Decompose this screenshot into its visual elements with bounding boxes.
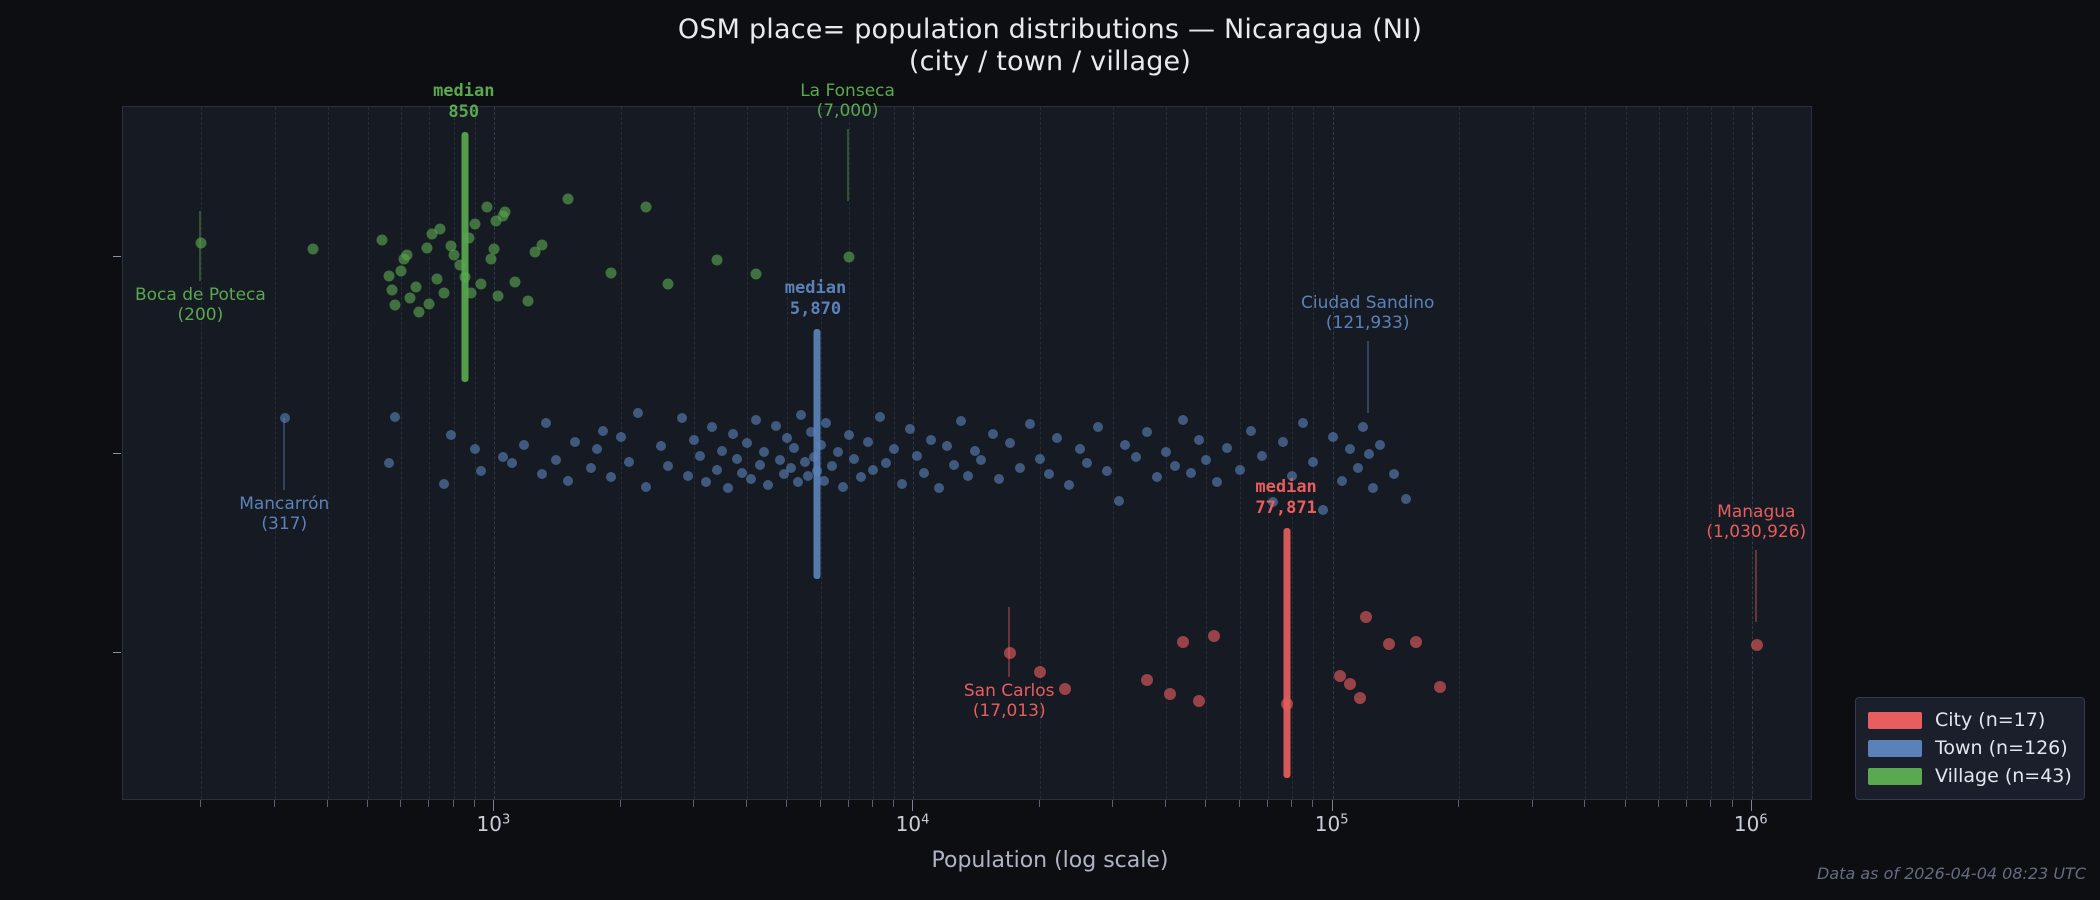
data-point-town bbox=[833, 447, 843, 457]
gridline bbox=[201, 107, 202, 799]
x-axis-title: Population (log scale) bbox=[0, 848, 2100, 873]
outlier-value: (17,013) bbox=[964, 701, 1055, 721]
outlier-leader-line bbox=[847, 129, 848, 201]
data-point-village bbox=[405, 292, 416, 303]
data-point-town bbox=[551, 455, 561, 465]
outlier-label-mancarr-n: Mancarrón(317) bbox=[239, 494, 329, 534]
outlier-value: (200) bbox=[135, 305, 266, 325]
gridline bbox=[873, 107, 874, 799]
outlier-value: (121,933) bbox=[1301, 313, 1434, 333]
median-value: 77,871 bbox=[1255, 498, 1316, 519]
data-point-town bbox=[786, 463, 796, 473]
median-word: median bbox=[433, 81, 494, 102]
data-point-village bbox=[390, 300, 401, 311]
data-point-village bbox=[432, 273, 443, 284]
gridline bbox=[368, 107, 369, 799]
data-point-city bbox=[1164, 688, 1176, 700]
gridline bbox=[1333, 107, 1334, 799]
data-point-town bbox=[1389, 469, 1399, 479]
x-axis-tick bbox=[1205, 800, 1206, 807]
x-axis-tick bbox=[1751, 800, 1752, 811]
gridline bbox=[1659, 107, 1660, 799]
data-point-village bbox=[489, 244, 500, 255]
data-point-village bbox=[750, 269, 761, 280]
median-value: 5,870 bbox=[785, 299, 846, 320]
data-point-city bbox=[1059, 683, 1071, 695]
outlier-leader-line bbox=[1009, 607, 1010, 677]
data-point-town bbox=[470, 444, 480, 454]
data-point-town bbox=[689, 435, 699, 445]
data-point-town bbox=[1102, 466, 1112, 476]
x-axis-tick bbox=[1239, 800, 1240, 807]
data-point-town bbox=[746, 474, 756, 484]
data-point-town bbox=[796, 410, 806, 420]
gridline bbox=[1533, 107, 1534, 799]
x-axis-tick bbox=[493, 800, 494, 811]
data-point-town bbox=[712, 465, 722, 475]
outlier-label-managua: Managua(1,030,926) bbox=[1706, 502, 1806, 542]
data-point-town bbox=[507, 458, 517, 468]
gridline bbox=[1292, 107, 1293, 799]
data-point-town bbox=[723, 483, 733, 493]
outlier-leader-line bbox=[284, 418, 285, 490]
x-axis-tick bbox=[1732, 800, 1733, 807]
data-point-town bbox=[598, 426, 608, 436]
data-point-town bbox=[789, 443, 799, 453]
data-point-city bbox=[1177, 636, 1189, 648]
data-point-town bbox=[1082, 458, 1092, 468]
legend-label-village: Village (n=43) bbox=[1935, 765, 2072, 787]
x-axis-tick bbox=[693, 800, 694, 807]
data-point-town bbox=[755, 460, 765, 470]
data-point-town bbox=[1345, 444, 1355, 454]
x-axis-tick-label: 103 bbox=[476, 812, 510, 836]
outlier-name: Managua bbox=[1706, 502, 1806, 522]
data-point-town bbox=[624, 457, 634, 467]
outlier-label-san-carlos: San Carlos(17,013) bbox=[964, 681, 1055, 721]
data-point-town bbox=[1278, 437, 1288, 447]
x-axis-tick bbox=[1291, 800, 1292, 807]
data-point-village bbox=[640, 202, 651, 213]
outlier-label-ciudad-sandino: Ciudad Sandino(121,933) bbox=[1301, 293, 1434, 333]
data-point-town bbox=[570, 437, 580, 447]
data-point-town bbox=[934, 483, 944, 493]
gridline bbox=[429, 107, 430, 799]
data-point-village bbox=[492, 291, 503, 302]
data-point-city bbox=[1434, 681, 1446, 693]
data-point-town bbox=[656, 441, 666, 451]
data-point-town bbox=[1308, 457, 1318, 467]
data-point-town bbox=[1142, 427, 1152, 437]
x-axis-tick bbox=[274, 800, 275, 807]
data-point-town bbox=[949, 460, 959, 470]
outlier-name: Boca de Poteca bbox=[135, 285, 266, 305]
gridline bbox=[401, 107, 402, 799]
median-label-city: median77,871 bbox=[1255, 477, 1316, 519]
data-point-town bbox=[793, 477, 803, 487]
gridline bbox=[747, 107, 748, 799]
data-point-village bbox=[509, 276, 520, 287]
data-point-town bbox=[563, 476, 573, 486]
data-point-town bbox=[771, 421, 781, 431]
data-point-town bbox=[988, 429, 998, 439]
x-axis-tick bbox=[367, 800, 368, 807]
data-point-town bbox=[728, 429, 738, 439]
data-point-town bbox=[683, 471, 693, 481]
gridline bbox=[1459, 107, 1460, 799]
data-point-town bbox=[1358, 422, 1368, 432]
data-point-town bbox=[889, 444, 899, 454]
data-point-town bbox=[926, 435, 936, 445]
data-point-town bbox=[1337, 476, 1347, 486]
data-point-town bbox=[1235, 465, 1245, 475]
data-point-town bbox=[1131, 452, 1141, 462]
x-axis-tick bbox=[893, 800, 894, 807]
outlier-leader-line bbox=[1756, 550, 1757, 622]
data-point-city bbox=[1360, 611, 1372, 623]
data-point-town bbox=[868, 465, 878, 475]
data-point-town bbox=[446, 430, 456, 440]
median-value: 850 bbox=[433, 102, 494, 123]
outlier-value: (1,030,926) bbox=[1706, 522, 1806, 542]
data-point-town bbox=[838, 482, 848, 492]
data-point-town bbox=[1114, 496, 1124, 506]
data-point-village bbox=[387, 284, 398, 295]
gridline bbox=[849, 107, 850, 799]
data-point-town bbox=[1152, 472, 1162, 482]
gridline bbox=[1240, 107, 1241, 799]
data-point-town bbox=[875, 412, 885, 422]
data-point-city bbox=[1383, 638, 1395, 650]
data-point-town bbox=[919, 468, 929, 478]
data-point-town bbox=[1161, 447, 1171, 457]
data-point-town bbox=[742, 438, 752, 448]
data-point-town bbox=[439, 479, 449, 489]
data-point-town bbox=[384, 458, 394, 468]
data-point-town bbox=[863, 437, 873, 447]
x-axis-tick bbox=[1532, 800, 1533, 807]
data-point-town bbox=[1015, 463, 1025, 473]
x-axis-tick bbox=[1710, 800, 1711, 807]
data-point-town bbox=[912, 451, 922, 461]
x-axis-tick bbox=[848, 800, 849, 807]
data-point-town bbox=[641, 482, 651, 492]
data-point-town bbox=[905, 424, 915, 434]
x-axis-tick bbox=[1458, 800, 1459, 807]
data-point-town bbox=[881, 458, 891, 468]
data-point-village bbox=[522, 295, 533, 306]
outlier-name: Ciudad Sandino bbox=[1301, 293, 1434, 313]
data-point-village bbox=[434, 223, 445, 234]
data-point-village bbox=[470, 219, 481, 230]
data-timestamp: Data as of 2026-04-04 08:23 UTC bbox=[1817, 864, 2086, 883]
data-point-town bbox=[1201, 455, 1211, 465]
x-axis-tick bbox=[474, 800, 475, 807]
data-point-town bbox=[1005, 438, 1015, 448]
x-axis-tick-label: 106 bbox=[1734, 812, 1768, 836]
data-point-town bbox=[476, 466, 486, 476]
gridline bbox=[1206, 107, 1207, 799]
chart-canvas: OSM place= population distributions — Ni… bbox=[0, 0, 2100, 900]
data-point-town bbox=[390, 412, 400, 422]
y-axis-tick bbox=[113, 453, 121, 454]
data-point-village bbox=[377, 234, 388, 245]
data-point-village bbox=[439, 287, 450, 298]
data-point-town bbox=[1194, 435, 1204, 445]
data-point-town bbox=[606, 472, 616, 482]
legend-label-town: Town (n=126) bbox=[1935, 737, 2068, 759]
data-point-town bbox=[1375, 440, 1385, 450]
data-point-town bbox=[1364, 449, 1374, 459]
data-point-town bbox=[1075, 444, 1085, 454]
data-point-town bbox=[775, 455, 785, 465]
data-point-town bbox=[994, 474, 1004, 484]
data-point-town bbox=[1064, 480, 1074, 490]
outlier-leader-line bbox=[1367, 341, 1368, 413]
data-point-city bbox=[1141, 674, 1153, 686]
x-axis-tick bbox=[1267, 800, 1268, 807]
x-axis-tick bbox=[1312, 800, 1313, 807]
outlier-label-boca-de-poteca: Boca de Poteca(200) bbox=[135, 285, 266, 325]
data-point-city bbox=[1004, 647, 1016, 659]
data-point-town bbox=[1257, 451, 1267, 461]
x-axis-tick bbox=[620, 800, 621, 807]
data-point-town bbox=[782, 433, 792, 443]
legend-swatch-village bbox=[1868, 768, 1922, 785]
data-point-village bbox=[421, 242, 432, 253]
x-axis-tick-label: 104 bbox=[896, 812, 930, 836]
data-point-town bbox=[1052, 433, 1062, 443]
data-point-town bbox=[1353, 463, 1363, 473]
legend-label-city: City (n=17) bbox=[1935, 709, 2045, 731]
x-axis-tick bbox=[200, 800, 201, 807]
legend-swatch-town bbox=[1868, 740, 1922, 757]
y-axis-tick bbox=[113, 652, 121, 653]
data-point-town bbox=[677, 413, 687, 423]
outlier-value: (7,000) bbox=[800, 101, 895, 121]
x-axis-tick bbox=[1039, 800, 1040, 807]
legend[interactable]: City (n=17) Town (n=126) Village (n=43) bbox=[1855, 697, 2085, 800]
data-point-village bbox=[481, 202, 492, 213]
legend-item[interactable]: Town (n=126) bbox=[1868, 734, 2072, 762]
data-point-city bbox=[1751, 639, 1763, 651]
chart-title: OSM place= population distributions — Ni… bbox=[0, 14, 2100, 78]
gridline bbox=[821, 107, 822, 799]
data-point-town bbox=[963, 471, 973, 481]
data-point-town bbox=[519, 440, 529, 450]
data-point-village bbox=[413, 306, 424, 317]
x-axis-tick bbox=[327, 800, 328, 807]
outlier-name: San Carlos bbox=[964, 681, 1055, 701]
data-point-city bbox=[1410, 636, 1422, 648]
data-point-town bbox=[633, 408, 643, 418]
data-point-town bbox=[663, 461, 673, 471]
data-point-town bbox=[976, 455, 986, 465]
data-point-town bbox=[1093, 422, 1103, 432]
data-point-town bbox=[942, 441, 952, 451]
x-axis-tick bbox=[912, 800, 913, 811]
outlier-leader-line bbox=[200, 211, 201, 281]
data-point-town bbox=[1178, 415, 1188, 425]
x-axis-tick bbox=[1625, 800, 1626, 807]
data-point-town bbox=[1401, 494, 1411, 504]
data-point-town bbox=[897, 479, 907, 489]
gridline bbox=[787, 107, 788, 799]
gridline bbox=[621, 107, 622, 799]
data-point-town bbox=[717, 446, 727, 456]
x-axis-tick bbox=[820, 800, 821, 807]
data-point-village bbox=[563, 194, 574, 205]
data-point-town bbox=[819, 476, 829, 486]
median-label-village: median850 bbox=[433, 81, 494, 123]
data-point-village bbox=[396, 266, 407, 277]
data-point-town bbox=[541, 418, 551, 428]
data-point-village bbox=[383, 270, 394, 281]
gridline bbox=[494, 107, 495, 799]
data-point-town bbox=[1025, 419, 1035, 429]
median-bar-town bbox=[813, 329, 820, 579]
data-point-village bbox=[424, 298, 435, 309]
data-point-town bbox=[956, 416, 966, 426]
x-axis-tick bbox=[786, 800, 787, 807]
data-point-city bbox=[1193, 695, 1205, 707]
data-point-town bbox=[592, 444, 602, 454]
gridline bbox=[454, 107, 455, 799]
data-point-town bbox=[827, 461, 837, 471]
data-point-town bbox=[695, 451, 705, 461]
data-point-town bbox=[844, 430, 854, 440]
data-point-town bbox=[1035, 454, 1045, 464]
data-point-town bbox=[537, 469, 547, 479]
outlier-label-la-fonseca: La Fonseca(7,000) bbox=[800, 81, 895, 121]
gridline bbox=[275, 107, 276, 799]
data-point-village bbox=[499, 206, 510, 217]
data-point-town bbox=[849, 454, 859, 464]
data-point-town bbox=[1328, 432, 1338, 442]
gridline bbox=[1313, 107, 1314, 799]
x-axis-tick bbox=[1686, 800, 1687, 807]
median-bar-village bbox=[461, 132, 468, 382]
data-point-town bbox=[803, 471, 813, 481]
median-word: median bbox=[785, 278, 846, 299]
data-point-town bbox=[759, 447, 769, 457]
data-point-town bbox=[751, 415, 761, 425]
x-axis-tick bbox=[453, 800, 454, 807]
gridline bbox=[1268, 107, 1269, 799]
data-point-village bbox=[485, 253, 496, 264]
x-axis-tick bbox=[746, 800, 747, 807]
data-point-town bbox=[701, 477, 711, 487]
x-axis-tick bbox=[1584, 800, 1585, 807]
data-point-town bbox=[280, 413, 290, 423]
data-point-village bbox=[843, 252, 854, 263]
outlier-value: (317) bbox=[239, 514, 329, 534]
legend-swatch-city bbox=[1868, 712, 1922, 729]
data-point-village bbox=[537, 239, 548, 250]
outlier-name: Mancarrón bbox=[239, 494, 329, 514]
data-point-town bbox=[1222, 443, 1232, 453]
data-point-village bbox=[663, 278, 674, 289]
chart-title-line2: (city / town / village) bbox=[0, 46, 2100, 78]
data-point-city bbox=[1354, 692, 1366, 704]
x-axis-tick bbox=[400, 800, 401, 807]
data-point-town bbox=[1170, 461, 1180, 471]
data-point-town bbox=[970, 446, 980, 456]
gridline bbox=[1733, 107, 1734, 799]
median-word: median bbox=[1255, 477, 1316, 498]
gridline bbox=[1711, 107, 1712, 799]
data-point-town bbox=[586, 463, 596, 473]
data-point-city bbox=[1208, 630, 1220, 642]
data-point-village bbox=[308, 244, 319, 255]
data-point-town bbox=[616, 432, 626, 442]
gridline bbox=[1687, 107, 1688, 799]
x-axis-tick bbox=[428, 800, 429, 807]
data-point-village bbox=[410, 281, 421, 292]
gridline bbox=[1113, 107, 1114, 799]
data-point-town bbox=[1212, 477, 1222, 487]
data-point-town bbox=[800, 457, 810, 467]
data-point-town bbox=[1298, 418, 1308, 428]
median-bar-city bbox=[1284, 528, 1291, 778]
data-point-town bbox=[732, 454, 742, 464]
data-point-town bbox=[856, 472, 866, 482]
x-axis-tick bbox=[1165, 800, 1166, 807]
data-point-town bbox=[763, 480, 773, 490]
x-axis-tick bbox=[872, 800, 873, 807]
data-point-town bbox=[1246, 426, 1256, 436]
x-axis-tick bbox=[1332, 800, 1333, 811]
x-axis-tick bbox=[1658, 800, 1659, 807]
data-point-town bbox=[1318, 505, 1328, 515]
data-point-village bbox=[712, 255, 723, 266]
gridline bbox=[1752, 107, 1753, 799]
data-point-village bbox=[476, 278, 487, 289]
data-point-town bbox=[1044, 469, 1054, 479]
legend-item[interactable]: City (n=17) bbox=[1868, 706, 2072, 734]
gridline bbox=[328, 107, 329, 799]
y-axis-tick bbox=[113, 256, 121, 257]
x-axis-tick bbox=[1112, 800, 1113, 807]
data-point-city bbox=[1034, 666, 1046, 678]
legend-item[interactable]: Village (n=43) bbox=[1868, 762, 2072, 790]
x-axis-tick-label: 105 bbox=[1315, 812, 1349, 836]
gridline bbox=[1626, 107, 1627, 799]
data-point-town bbox=[821, 418, 831, 428]
data-point-town bbox=[1368, 483, 1378, 493]
data-point-town bbox=[1186, 468, 1196, 478]
data-point-town bbox=[1120, 440, 1130, 450]
chart-title-line1: OSM place= population distributions — Ni… bbox=[678, 14, 1422, 45]
median-label-town: median5,870 bbox=[785, 278, 846, 320]
outlier-name: La Fonseca bbox=[800, 81, 895, 101]
data-point-village bbox=[606, 267, 617, 278]
data-point-city bbox=[1344, 678, 1356, 690]
data-point-town bbox=[707, 422, 717, 432]
data-point-village bbox=[402, 250, 413, 261]
data-point-village bbox=[196, 237, 207, 248]
gridline bbox=[1585, 107, 1586, 799]
